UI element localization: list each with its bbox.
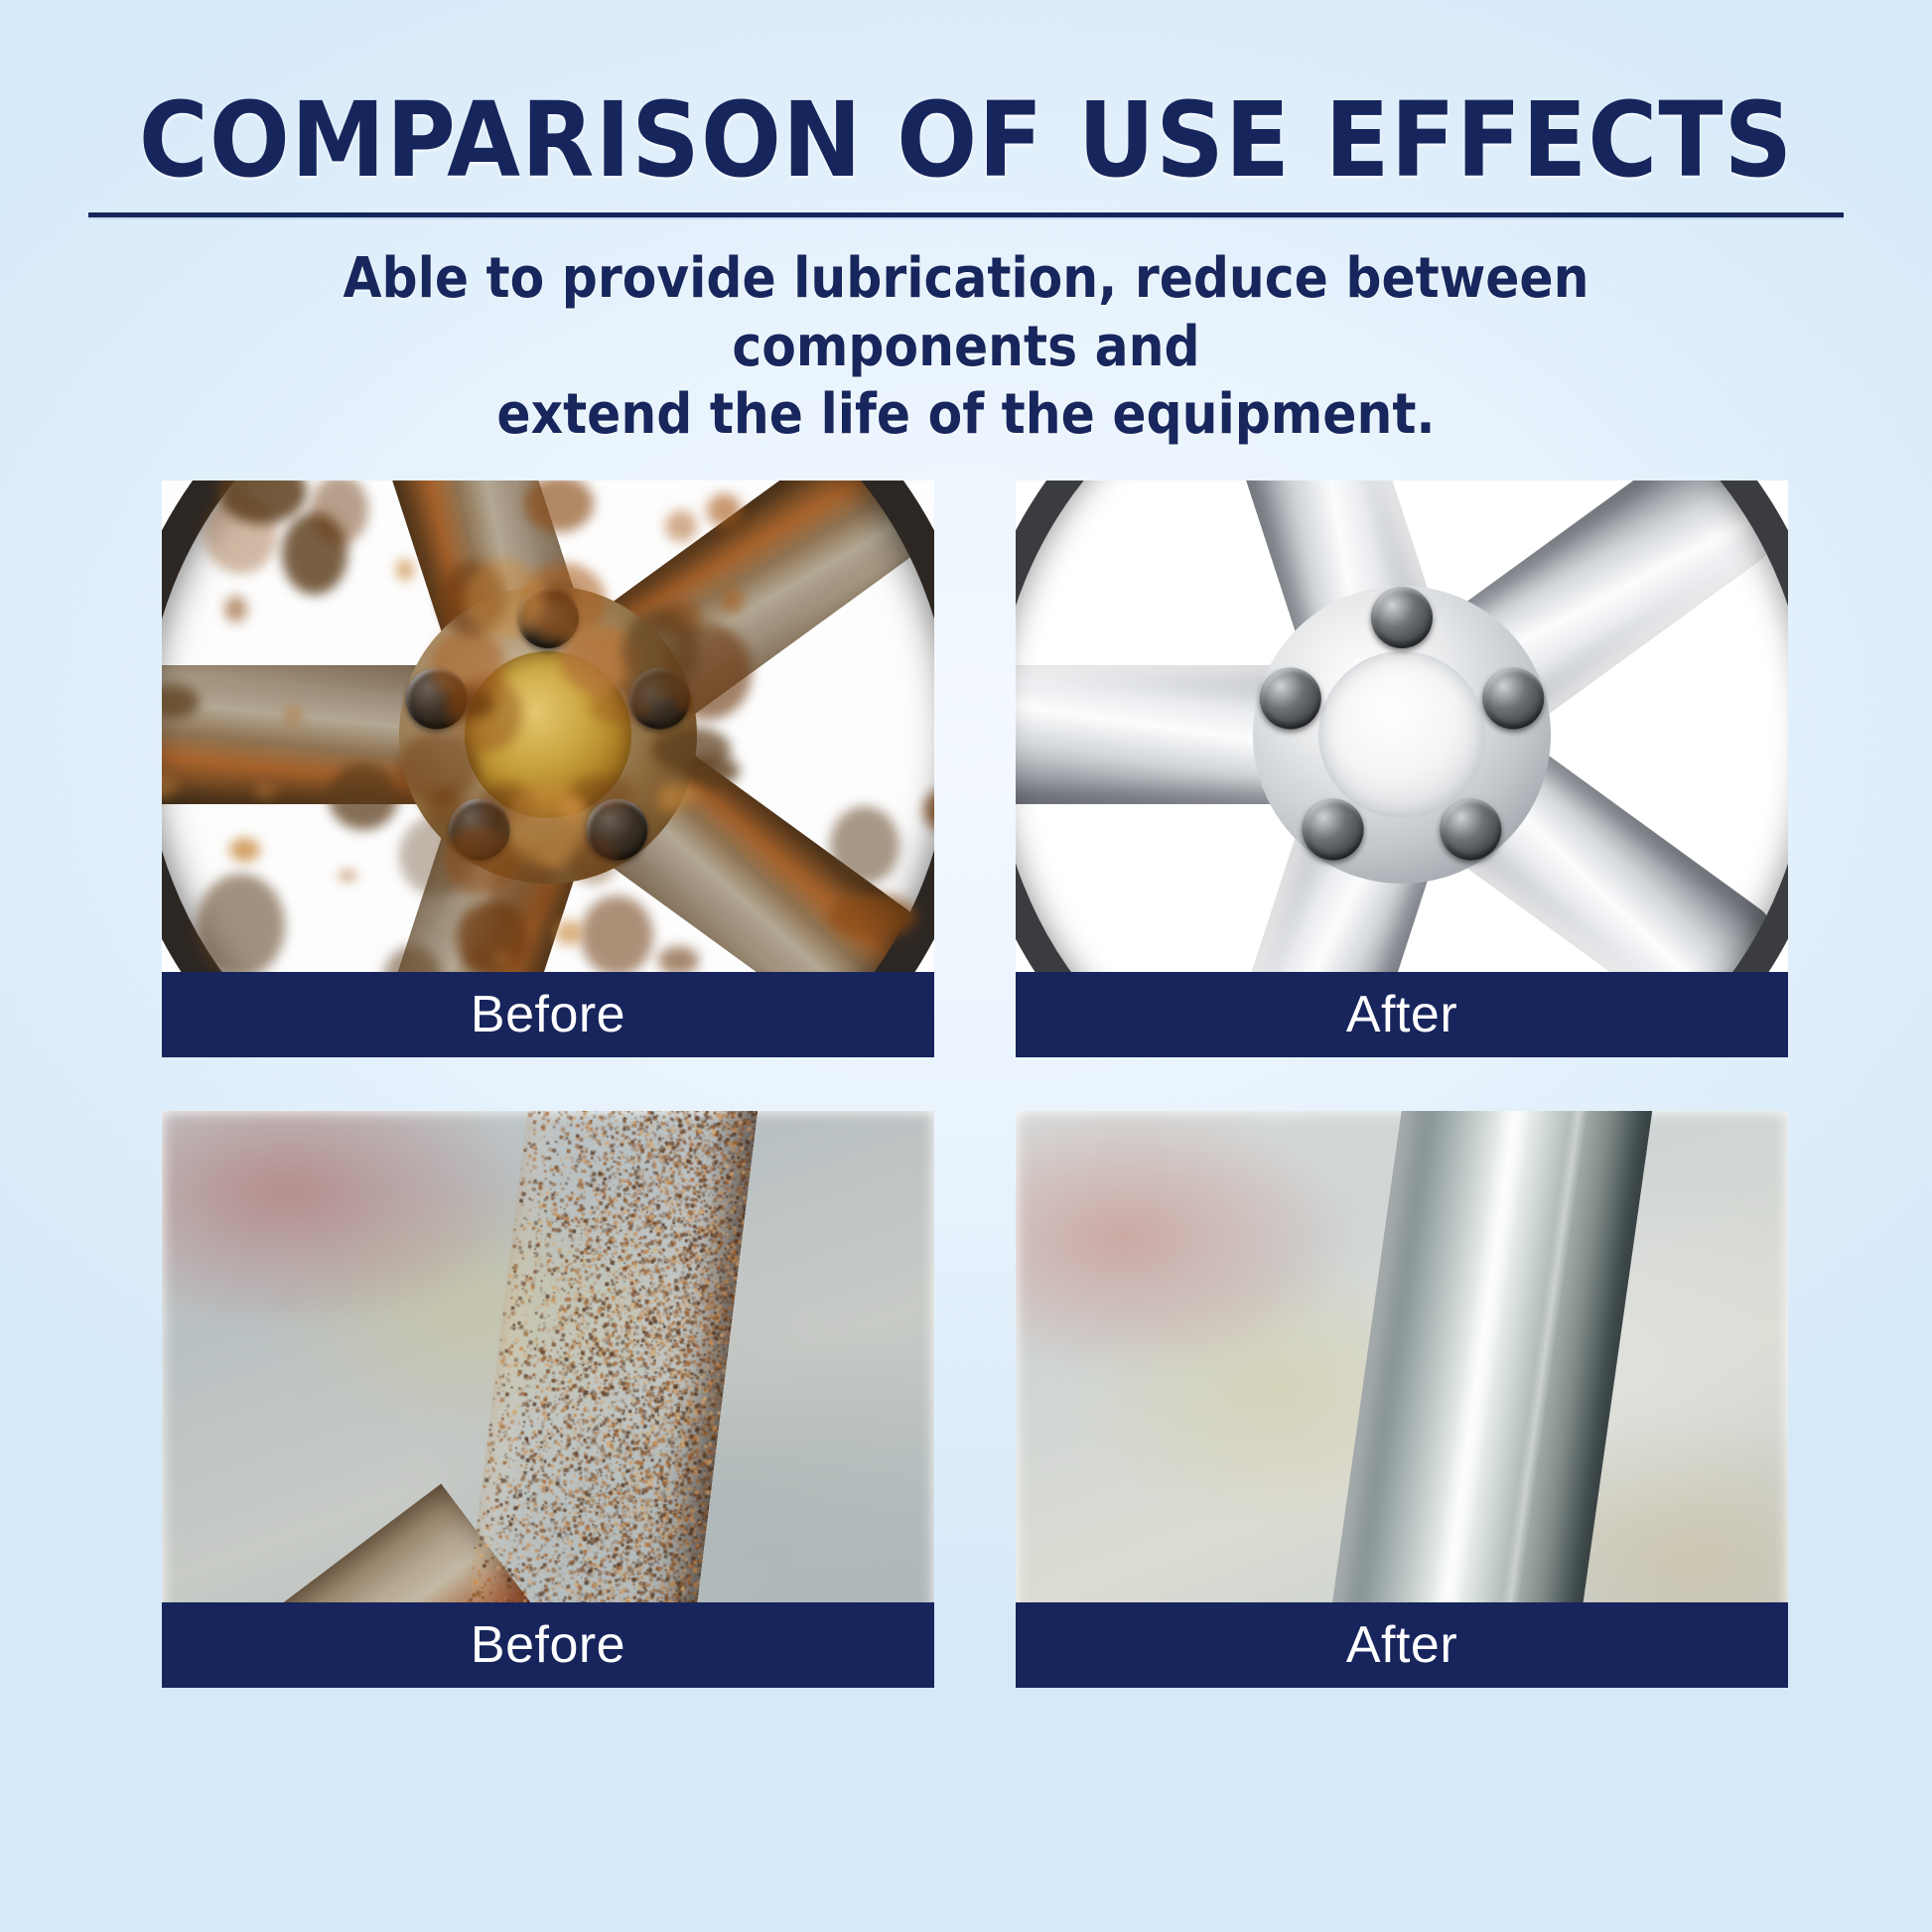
wheel-hub-center-cap xyxy=(1318,651,1485,818)
wheel-lug-nut xyxy=(1440,798,1501,860)
photo-pipe-before xyxy=(162,1111,934,1688)
rust-blotch xyxy=(828,894,917,938)
rust-blotch xyxy=(284,705,302,727)
wheel-rusty-image xyxy=(162,481,934,1057)
rust-blotch xyxy=(722,588,743,614)
rust-blotch xyxy=(544,585,575,606)
rust-blotch xyxy=(255,783,276,798)
rust-blotch xyxy=(465,952,483,966)
rust-blotch xyxy=(329,763,399,830)
caption-bar-pipe-before: Before xyxy=(162,1602,934,1688)
rust-blotch xyxy=(493,952,511,965)
rust-blotch xyxy=(658,946,699,975)
rust-blotch xyxy=(656,791,682,815)
wheel-lug-nut xyxy=(1371,587,1433,648)
caption-label: Before xyxy=(471,1615,625,1675)
comparison-card-wheel-after[interactable]: After xyxy=(1016,481,1788,1057)
wheel-lug-nut xyxy=(1482,667,1544,729)
rust-blotch xyxy=(397,732,479,805)
rust-blotch xyxy=(707,493,742,527)
page-subtitle: Able to provide lubrication, reduce betw… xyxy=(202,245,1730,449)
rust-blotch xyxy=(558,798,586,819)
page-header: COMPARISON OF USE EFFECTS Able to provid… xyxy=(0,0,1932,449)
rust-blotch xyxy=(683,756,740,786)
pipe-rusty-image xyxy=(162,1111,934,1688)
rust-blotch xyxy=(617,680,639,695)
title-divider xyxy=(88,212,1844,219)
rust-blotch xyxy=(466,558,542,639)
rust-blotch xyxy=(555,920,582,945)
wheel-graphic xyxy=(1016,481,1788,1057)
page-title: COMPARISON OF USE EFFECTS xyxy=(0,85,1932,195)
subtitle-line-2: extend the life of the equipment. xyxy=(202,381,1730,449)
rust-blotch xyxy=(224,596,247,622)
rust-blotch xyxy=(581,896,653,976)
comparison-card-pipe-before[interactable]: Before xyxy=(162,1111,934,1688)
wheel-graphic xyxy=(162,481,934,1057)
pipe-clean-image xyxy=(1016,1111,1788,1688)
caption-bar-wheel-after: After xyxy=(1016,972,1788,1057)
comparison-grid: Before After Before xyxy=(162,481,1790,1688)
rust-blotch xyxy=(508,781,586,866)
photo-wheel-after xyxy=(1016,481,1788,1057)
caption-label: After xyxy=(1346,985,1457,1044)
photo-pipe-after xyxy=(1016,1111,1788,1688)
caption-label: After xyxy=(1346,1615,1457,1675)
caption-label: Before xyxy=(471,985,625,1044)
wheel-lug-nut xyxy=(1260,667,1321,729)
rust-blotch xyxy=(339,871,356,880)
comparison-card-pipe-after[interactable]: After xyxy=(1016,1111,1788,1688)
wheel-clean-image xyxy=(1016,481,1788,1057)
rust-blotch xyxy=(197,874,285,978)
photo-wheel-before xyxy=(162,481,934,1057)
wheel-lug-nut xyxy=(1303,798,1364,860)
rust-blotch xyxy=(446,689,494,719)
caption-bar-wheel-before: Before xyxy=(162,972,934,1057)
rust-blotch xyxy=(830,806,899,885)
comparison-card-wheel-before[interactable]: Before xyxy=(162,481,934,1057)
subtitle-line-1: Able to provide lubrication, reduce betw… xyxy=(202,245,1730,381)
rust-blotch xyxy=(229,838,260,862)
rust-blotch xyxy=(665,510,697,542)
caption-bar-pipe-after: After xyxy=(1016,1602,1788,1688)
rust-blotch xyxy=(444,825,519,897)
